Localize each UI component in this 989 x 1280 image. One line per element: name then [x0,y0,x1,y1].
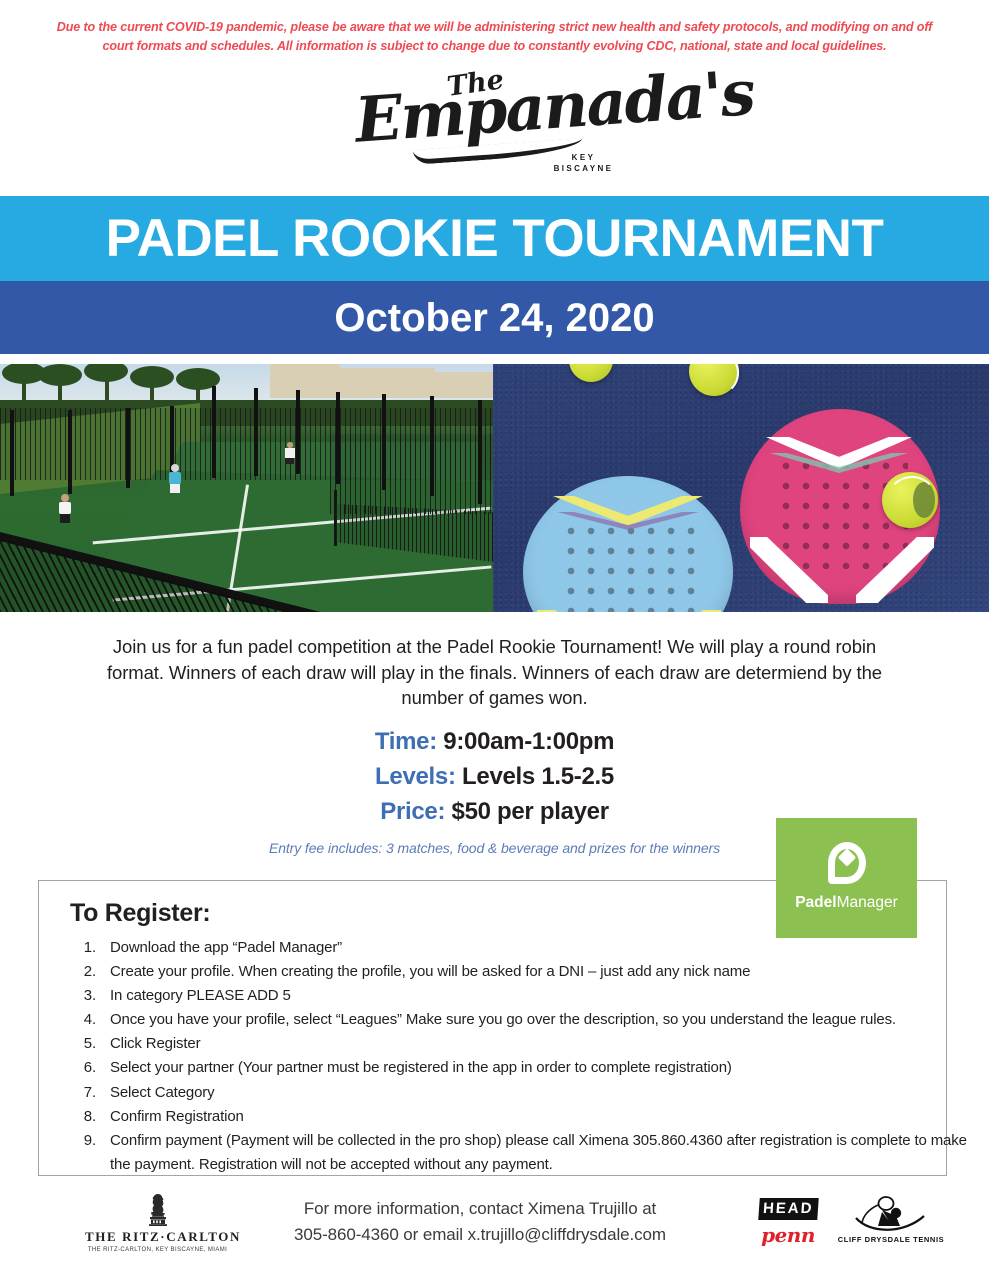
contact-line-2: 305-860-4360 or email x.trujillo@cliffdr… [250,1222,710,1248]
time-label: Time: [375,728,437,755]
building [270,364,340,398]
contact-info: For more information, contact Ximena Tru… [250,1196,710,1248]
fence-post [10,410,14,496]
tennis-player-swoosh-icon [852,1196,930,1234]
event-description: Join us for a fun padel competition at t… [0,634,989,711]
cliff-drysdale-name: CLIFF DRYSDALE TENNIS [836,1235,946,1244]
padel-courts-photo [0,364,493,612]
fence-post [430,396,434,496]
detail-time: Time: 9:00am-1:00pm [0,724,989,759]
detail-levels: Levels: Levels 1.5-2.5 [0,759,989,794]
price-label: Price: [380,798,445,825]
fence-post [254,388,258,476]
covid-notice: Due to the current COVID-19 pandemic, pl… [0,18,989,56]
player-figure [168,464,182,494]
building [430,372,493,398]
racket-holes [557,517,700,612]
cliff-drysdale-logo: CLIFF DRYSDALE TENNIS [836,1196,946,1244]
palm-fronds [38,364,82,386]
register-step: Select Category [100,1081,980,1105]
head-brand-label: HEAD [758,1198,818,1220]
palm-fronds [130,366,174,388]
register-step: Download the app “Padel Manager” [100,936,980,960]
register-step: Create your profile. When creating the p… [100,960,980,984]
register-step: Confirm Registration [100,1105,980,1129]
tournament-title-banner: PADEL ROOKIE TOURNAMENT [0,196,989,281]
register-step: Confirm payment (Payment will be collect… [100,1129,980,1177]
contact-line-1: For more information, contact Ximena Tru… [250,1196,710,1222]
player-figure [58,494,72,524]
logo-location-line2: BISCAYNE [554,164,614,173]
fence-post [478,400,482,504]
padel-manager-name-light: Manager [837,894,898,911]
ritz-carlton-name: THE RITZ·CARLTON [85,1229,230,1245]
logo-location-line1: KEY [572,153,596,162]
logo-the-text: The [445,66,505,101]
penn-brand-label: penn [745,1223,831,1247]
blue-racket [523,476,733,612]
player-figure [285,442,295,464]
lion-crest-icon [145,1193,171,1227]
fence-post [68,410,72,494]
register-step: Select your partner (Your partner must b… [100,1056,980,1080]
tournament-date-banner: October 24, 2020 [0,281,989,354]
price-value: $50 per player [452,798,609,825]
register-step: Click Register [100,1032,980,1056]
event-details: Time: 9:00am-1:00pm Levels: Levels 1.5-2… [0,724,989,829]
logo-location-text: KEY BISCAYNE [539,152,629,174]
tennis-ball-seam [886,476,938,528]
empanadas-logo: Empanada's The KEY BISCAYNE [0,78,989,186]
levels-label: Levels: [375,763,456,790]
building [340,368,435,398]
padel-manager-logo: PadelManager [776,818,917,938]
court-fence-right [330,434,493,514]
photo-strip [0,364,989,612]
tournament-title: PADEL ROOKIE TOURNAMENT [106,212,884,266]
register-heading: To Register: [70,899,210,928]
fence-post [212,386,216,478]
ritz-carlton-logo: THE RITZ·CARLTON THE RITZ-CARLTON, KEY B… [85,1193,230,1253]
register-steps-list: Download the app “Padel Manager” Create … [62,936,980,1177]
fence-post [382,394,386,490]
padel-manager-name-bold: Padel [795,894,836,911]
head-penn-logo: HEAD penn [745,1198,831,1247]
register-step: Once you have your profile, select “Leag… [100,1008,980,1032]
fence-post [336,392,340,484]
register-step: In category PLEASE ADD 5 [100,984,980,1008]
padel-manager-wordmark: PadelManager [776,894,917,912]
fence-post [126,408,130,488]
fence-post [296,390,300,474]
tournament-date: October 24, 2020 [334,297,654,339]
time-value: 9:00am-1:00pm [443,728,614,755]
ritz-carlton-property: THE RITZ-CARLTON, KEY BISCAYNE, MIAMI [85,1247,230,1253]
padel-rackets-photo [493,364,989,612]
levels-value: Levels 1.5-2.5 [462,763,614,790]
